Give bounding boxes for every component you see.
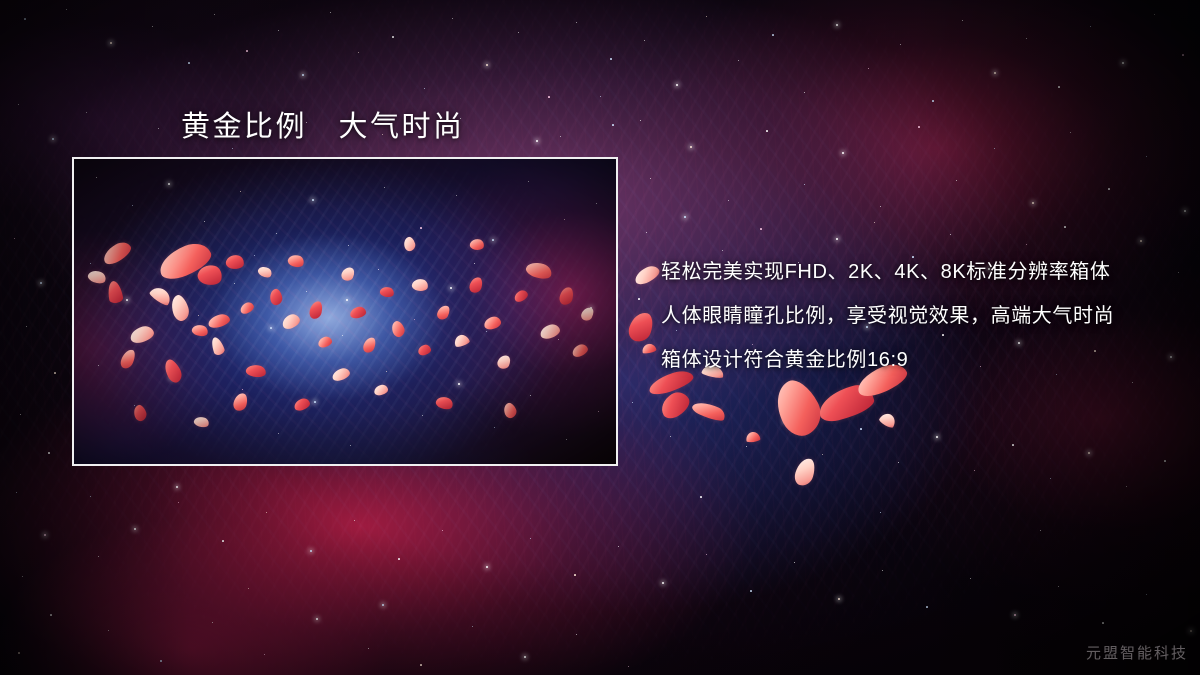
watermark: 元盟智能科技 (1086, 642, 1188, 663)
star (52, 138, 54, 140)
rose-petal (626, 309, 656, 344)
star (1108, 188, 1110, 190)
star (868, 68, 869, 69)
star (44, 534, 46, 536)
star (536, 140, 538, 142)
star (706, 16, 707, 17)
star (932, 100, 934, 102)
star (40, 282, 42, 284)
rose-petal (815, 382, 877, 425)
star (152, 26, 153, 27)
star (900, 44, 901, 45)
star (618, 546, 619, 547)
star (264, 654, 265, 655)
star (950, 234, 951, 235)
star (392, 36, 394, 38)
star (1164, 460, 1166, 462)
star (24, 18, 26, 20)
star (524, 656, 526, 658)
star (188, 62, 190, 64)
star (424, 88, 425, 89)
star (1102, 622, 1104, 624)
star (628, 666, 629, 667)
star (134, 528, 136, 530)
star (278, 30, 279, 31)
star (178, 502, 179, 503)
star (794, 562, 795, 563)
star (974, 470, 975, 471)
star (18, 652, 20, 654)
star (880, 512, 881, 513)
framed-image-content (74, 159, 616, 464)
rose-petal (767, 374, 829, 442)
star (882, 570, 883, 571)
star (880, 206, 881, 207)
star (576, 22, 577, 23)
star (772, 34, 774, 36)
star (750, 590, 752, 592)
star (860, 428, 862, 430)
star (108, 630, 109, 631)
star (110, 42, 112, 44)
star (918, 126, 920, 128)
star (330, 12, 331, 13)
star (926, 606, 928, 608)
star (1070, 132, 1071, 133)
star (838, 598, 840, 600)
star (1032, 202, 1034, 204)
star (936, 436, 938, 438)
star (766, 130, 768, 132)
star (420, 664, 422, 666)
star (1058, 86, 1060, 88)
star (1146, 594, 1147, 595)
star (836, 24, 838, 26)
page-title: 黄金比例 大气时尚 (181, 103, 465, 145)
star (1088, 452, 1090, 454)
star (176, 486, 178, 488)
star (662, 582, 664, 584)
star (358, 52, 359, 53)
star (574, 574, 576, 576)
star (1126, 486, 1127, 487)
star (48, 452, 50, 454)
star (670, 436, 671, 437)
star (746, 446, 747, 447)
star (956, 180, 957, 181)
slide-canvas: 黄金比例 大气时尚 轻松完美实现FHD、2K、4K、8K标准分辨率箱体 人体眼睛… (0, 0, 1200, 675)
star (1140, 240, 1142, 242)
star (22, 576, 23, 577)
star (1146, 156, 1147, 157)
star (708, 412, 710, 414)
star (994, 148, 995, 149)
star (612, 124, 614, 126)
star (248, 588, 249, 589)
star (1026, 38, 1027, 39)
star (86, 112, 87, 113)
rose-petal (745, 431, 760, 443)
rose-petal (878, 411, 898, 429)
star (54, 372, 56, 374)
rose-petal (632, 263, 662, 287)
star (1154, 14, 1155, 15)
star (842, 152, 844, 154)
star (1026, 244, 1027, 245)
star (1012, 444, 1014, 446)
star (158, 128, 159, 129)
star (1050, 478, 1051, 479)
star (310, 550, 312, 552)
star (962, 20, 963, 21)
star (706, 554, 707, 555)
star (98, 556, 99, 557)
star (452, 18, 453, 19)
star (804, 92, 805, 93)
star (16, 492, 17, 493)
star (1178, 272, 1179, 273)
star (160, 660, 162, 662)
body-line-2: 人体眼睛瞳孔比例，享受视觉效果，高端大气时尚 (661, 294, 1161, 338)
star (316, 618, 318, 620)
star (530, 538, 531, 539)
star (382, 604, 384, 606)
star (486, 566, 488, 568)
star (266, 512, 267, 513)
star (600, 96, 601, 97)
star (684, 216, 686, 218)
star (442, 530, 443, 531)
star (1058, 586, 1059, 587)
framed-image (72, 157, 618, 466)
star (398, 558, 400, 560)
rose-petal (656, 388, 693, 423)
star (646, 232, 647, 233)
star (90, 496, 91, 497)
star (368, 648, 369, 649)
star (214, 14, 215, 15)
star (1190, 630, 1192, 632)
star (650, 178, 651, 179)
framed-image-vignette (74, 159, 616, 464)
star (644, 40, 645, 41)
body-copy: 轻松完美实现FHD、2K、4K、8K标准分辨率箱体 人体眼睛瞳孔比例，享受视觉效… (661, 250, 1161, 382)
star (1064, 226, 1066, 228)
star (302, 74, 304, 76)
star (610, 58, 612, 60)
star (1170, 356, 1172, 358)
star (576, 634, 577, 635)
star (690, 146, 692, 148)
star (898, 462, 899, 463)
star (784, 420, 786, 422)
star (804, 184, 805, 185)
star (728, 200, 729, 201)
star (14, 238, 15, 239)
rose-petal (641, 343, 657, 355)
star (640, 120, 641, 121)
star (1090, 26, 1091, 27)
star (676, 84, 678, 86)
star (738, 60, 739, 61)
body-line-1: 轻松完美实现FHD、2K、4K、8K标准分辨率箱体 (661, 250, 1161, 294)
star (50, 614, 52, 616)
star (760, 228, 762, 230)
body-line-3: 箱体设计符合黄金比例16:9 (661, 338, 1161, 382)
star (994, 72, 996, 74)
star (548, 96, 550, 98)
star (1182, 54, 1184, 56)
star (1040, 530, 1041, 531)
star (560, 136, 561, 137)
star (638, 298, 640, 300)
star (26, 326, 27, 327)
star (822, 454, 823, 455)
star (232, 148, 233, 149)
star (1014, 614, 1016, 616)
star (1122, 62, 1124, 64)
star (836, 238, 838, 240)
star (246, 50, 248, 52)
star (874, 222, 875, 223)
star (1132, 382, 1133, 383)
star (970, 578, 971, 579)
star (472, 626, 473, 627)
star (66, 9, 67, 10)
star (518, 32, 519, 33)
star (486, 64, 488, 66)
star (212, 622, 213, 623)
star (18, 104, 19, 105)
star (1184, 210, 1186, 212)
rose-petal (691, 398, 728, 425)
star (222, 540, 224, 542)
star (20, 414, 21, 415)
rose-petal (792, 456, 817, 488)
star (700, 496, 702, 498)
star (632, 402, 633, 403)
star (354, 520, 355, 521)
